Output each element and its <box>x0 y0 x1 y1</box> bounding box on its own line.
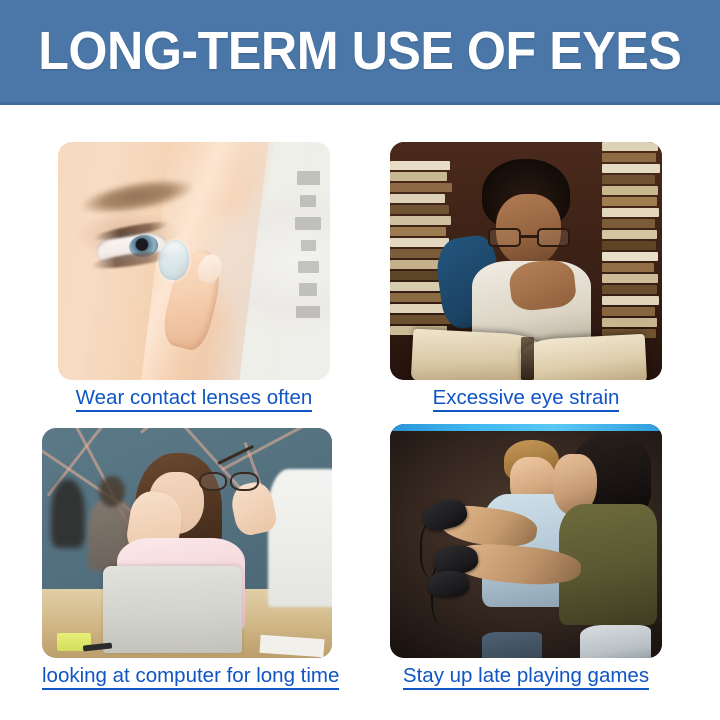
background-chart-glyphs <box>292 171 325 357</box>
glasses-right-lens <box>230 472 259 492</box>
caption-text: looking at computer for long time <box>42 664 339 690</box>
card-caption[interactable]: Wear contact lenses often <box>58 386 330 410</box>
card-caption[interactable]: Excessive eye strain <box>390 386 662 410</box>
laptop <box>103 566 242 653</box>
eye-strain-photo <box>390 142 662 380</box>
top-blue-strip <box>390 424 662 431</box>
page-title: LONG-TERM USE OF EYES <box>38 24 681 78</box>
header-banner: LONG-TERM USE OF EYES <box>0 0 720 105</box>
cards-grid: Wear contact lenses often <box>0 118 720 718</box>
player-trousers-right <box>580 625 651 658</box>
eyeglasses-icon <box>196 467 271 492</box>
gaming-photo <box>390 424 662 658</box>
caption-text: Stay up late playing games <box>403 664 649 690</box>
open-book-right-page <box>519 334 647 380</box>
glasses-bridge <box>521 235 537 238</box>
background-person-right <box>268 469 332 607</box>
card-eye-strain[interactable]: Excessive eye strain <box>390 142 662 380</box>
player-jeans-left <box>482 632 542 658</box>
glasses-right-lens <box>537 228 570 247</box>
glasses-left-lens <box>488 228 521 247</box>
book-spine <box>521 337 535 380</box>
eyeglasses-icon <box>488 228 570 247</box>
caption-text: Wear contact lenses often <box>76 386 313 412</box>
card-contact-lenses[interactable]: Wear contact lenses often <box>58 142 330 380</box>
glasses-left-lens <box>199 472 228 492</box>
caption-text: Excessive eye strain <box>433 386 620 412</box>
background-person-far-left <box>51 479 86 548</box>
card-caption[interactable]: looking at computer for long time <box>42 664 332 688</box>
card-late-night-gaming[interactable]: Stay up late playing games <box>390 424 662 658</box>
contact-lens-photo <box>58 142 330 380</box>
infographic-poster: LONG-TERM USE OF EYES <box>0 0 720 720</box>
card-computer-use[interactable]: looking at computer for long time <box>42 428 332 658</box>
computer-use-photo <box>42 428 332 658</box>
card-caption[interactable]: Stay up late playing games <box>390 664 662 688</box>
